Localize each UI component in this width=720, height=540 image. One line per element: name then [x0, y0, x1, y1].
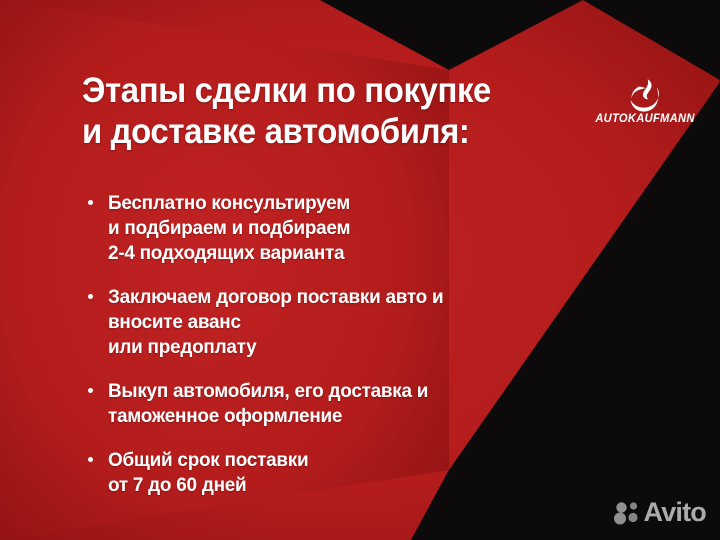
avito-wordmark: Avito — [644, 499, 707, 526]
bullet-dot-icon — [88, 200, 93, 205]
poster-canvas: Этапы сделки по покупке и доставке автом… — [0, 0, 720, 540]
bullet-dot-icon — [88, 457, 93, 462]
title-line-2: и доставке автомобиля: — [82, 111, 571, 152]
list-item-line: и подбираем и подбираем — [108, 216, 610, 241]
list-item-line: вносите аванс — [108, 310, 610, 335]
flame-swirl-icon — [627, 78, 663, 112]
list-item-line: Заключаем договор поставки авто и — [108, 285, 610, 310]
list-item-line: Выкуп автомобиля, его доставка и — [108, 379, 610, 404]
list-item-line: Бесплатно консультируем — [108, 191, 610, 216]
list-item: Выкуп автомобиля, его доставка и таможен… — [86, 379, 626, 429]
list-item-line: или предоплату — [108, 335, 610, 360]
bullet-dot-icon — [88, 294, 93, 299]
benefits-list: Бесплатно консультируем и подбираем и по… — [86, 191, 626, 498]
list-item-line: таможенное оформление — [108, 404, 610, 429]
list-item-text: Выкуп автомобиля, его доставка и таможен… — [108, 379, 626, 429]
page-title: Этапы сделки по покупке и доставке автом… — [82, 70, 602, 152]
title-line-1: Этапы сделки по покупке — [82, 70, 571, 111]
list-item-line: Общий срок поставки — [108, 448, 610, 473]
list-item: Заключаем договор поставки авто и вносит… — [86, 285, 626, 360]
list-item: Общий срок поставки от 7 до 60 дней — [86, 448, 626, 498]
list-item-line: от 7 до 60 дней — [108, 473, 610, 498]
avito-dots-icon — [614, 501, 640, 525]
brand-wordmark: AUTOKAUFMANN — [594, 113, 697, 125]
brand-logo: AUTOKAUFMANN — [592, 78, 698, 125]
bullet-dot-icon — [88, 388, 93, 393]
list-item-line: 2-4 подходящих варианта — [108, 241, 610, 266]
list-item-text: Заключаем договор поставки авто и вносит… — [108, 285, 626, 360]
list-item: Бесплатно консультируем и подбираем и по… — [86, 191, 626, 266]
list-item-text: Общий срок поставки от 7 до 60 дней — [108, 448, 626, 498]
list-item-text: Бесплатно консультируем и подбираем и по… — [108, 191, 626, 266]
avito-watermark: Avito — [614, 499, 707, 526]
